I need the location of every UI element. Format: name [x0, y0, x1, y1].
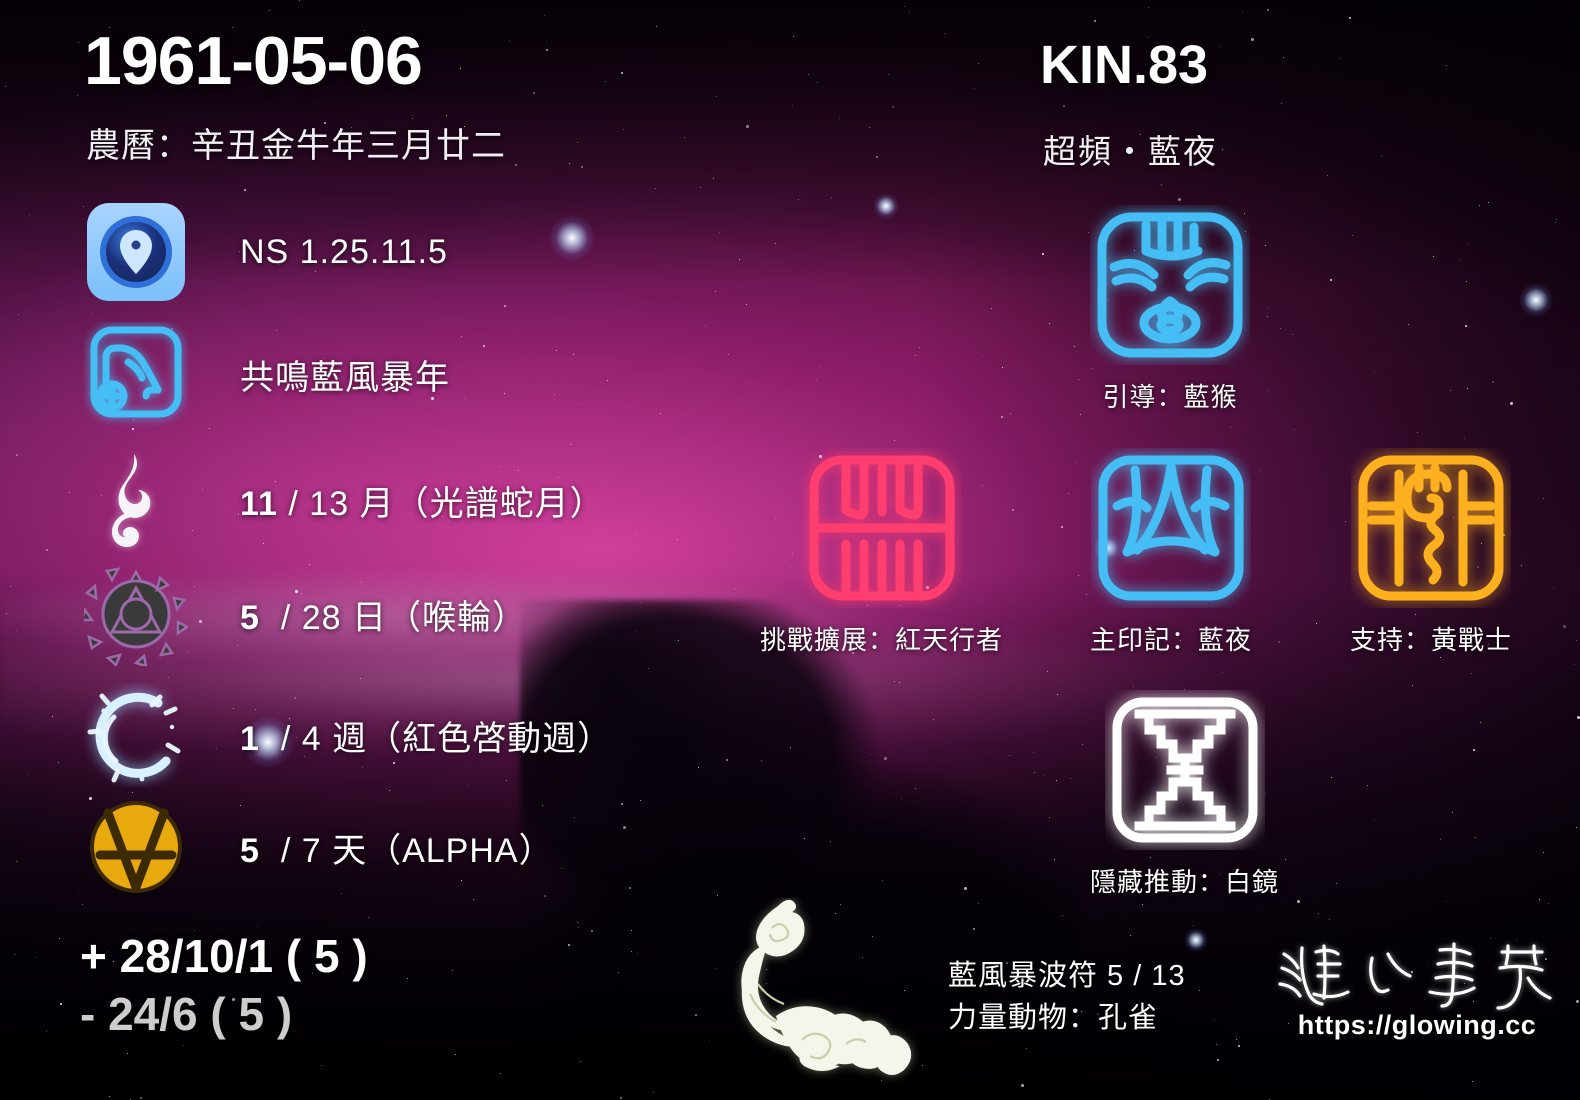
- power-animal-text: 力量動物：孔雀: [948, 997, 1186, 1039]
- info-row-year-label: 共鳴藍風暴年: [240, 350, 450, 399]
- throat-chakra-icon: [84, 562, 188, 666]
- blue-night-glyph: [1091, 448, 1251, 608]
- water-moon-icon: [84, 683, 188, 787]
- wavespell-text: 藍風暴波符 5 / 13: [948, 955, 1186, 997]
- kin-calendar-card: 1961-05-06 農曆：辛丑金牛年三月廿二 KIN.83 超頻・藍夜: [0, 0, 1580, 1100]
- oracle-hidden[interactable]: 隱藏推動：白鏡: [1090, 690, 1279, 899]
- moon-index: 11: [240, 485, 278, 523]
- yellow-plasma-icon: [84, 795, 188, 899]
- info-row-ns: NS 1.25.11.5: [84, 200, 448, 304]
- page-title: 1961-05-06: [84, 22, 422, 100]
- day-index: 5: [240, 599, 260, 637]
- info-row-moon: 11 / 13 月（光譜蛇月）: [84, 448, 605, 552]
- moon-total: / 13: [288, 485, 349, 523]
- info-row-week-label: 1 / 4 週（紅色啓動週）: [240, 711, 612, 760]
- white-flame-icon: [84, 448, 188, 552]
- moon-unit: 月: [360, 485, 395, 523]
- kin-counters: + 28/10/1 ( 5 ) - 24/6 ( 5 ): [80, 928, 368, 1044]
- chakra-name: （喉輪）: [387, 599, 527, 637]
- day-unit: 日: [352, 599, 387, 637]
- info-row-day-label: 5 / 28 日（喉輪）: [240, 590, 527, 639]
- kin-counter-plus: + 28/10/1 ( 5 ): [80, 928, 368, 986]
- kin-counter-minus: - 24/6 ( 5 ): [80, 986, 368, 1044]
- white-mirror-glyph: [1105, 690, 1265, 850]
- info-row-plasma: 5 / 7 天（ALPHA）: [84, 795, 554, 899]
- plasma-index: 5: [240, 832, 260, 870]
- info-row-moon-label: 11 / 13 月（光譜蛇月）: [240, 476, 605, 525]
- oracle-guide-label: 引導：藍猴: [1090, 377, 1250, 414]
- week-unit: 週: [332, 720, 367, 758]
- yellow-warrior-glyph: [1351, 448, 1511, 608]
- oracle-hidden-label: 隱藏推動：白鏡: [1090, 862, 1279, 899]
- kin-number: KIN.83: [1040, 34, 1208, 96]
- info-row-week: 1 / 4 週（紅色啓動週）: [84, 683, 612, 787]
- oracle-challenge-label: 挑戰擴展：紅天行者: [760, 620, 1003, 657]
- info-row-plasma-label: 5 / 7 天（ALPHA）: [240, 823, 554, 872]
- oracle-destiny[interactable]: 主印記：藍夜: [1090, 448, 1252, 657]
- wavespell-info: 藍風暴波符 5 / 13 力量動物：孔雀: [948, 955, 1186, 1039]
- moon-name: （光譜蛇月）: [395, 485, 605, 523]
- week-name: （紅色啓動週）: [367, 720, 612, 758]
- brand-block[interactable]: https://glowing.cc: [1272, 938, 1562, 1041]
- brand-calligraphy: [1272, 938, 1562, 1010]
- kin-subtitle: 超頻・藍夜: [1043, 125, 1218, 173]
- oracle-support-label: 支持：黃戰士: [1350, 620, 1512, 657]
- week-total: / 4: [281, 720, 322, 758]
- oracle-guide[interactable]: 引導：藍猴: [1090, 205, 1250, 414]
- info-row-year: 共鳴藍風暴年: [84, 322, 450, 426]
- oracle-destiny-label: 主印記：藍夜: [1090, 620, 1252, 657]
- week-index: 1: [240, 720, 260, 758]
- plasma-total: / 7: [281, 832, 322, 870]
- lunar-date-text: 農曆：辛丑金牛年三月廿二: [86, 118, 506, 167]
- oracle-support[interactable]: 支持：黃戰士: [1350, 448, 1512, 657]
- day-total: / 28: [281, 599, 342, 637]
- brand-url[interactable]: https://glowing.cc: [1272, 1010, 1562, 1041]
- blue-storm-icon: [84, 322, 188, 426]
- red-skywalker-glyph: [802, 448, 962, 608]
- info-row-day: 5 / 28 日（喉輪）: [84, 562, 527, 666]
- plasma-name: （ALPHA）: [367, 832, 554, 870]
- plasma-unit: 天: [332, 832, 367, 870]
- location-pin-icon: [84, 200, 188, 304]
- peacock-ornament: [706, 898, 936, 1098]
- blue-monkey-glyph: [1090, 205, 1250, 365]
- info-row-ns-label: NS 1.25.11.5: [240, 233, 448, 272]
- oracle-challenge[interactable]: 挑戰擴展：紅天行者: [760, 448, 1003, 657]
